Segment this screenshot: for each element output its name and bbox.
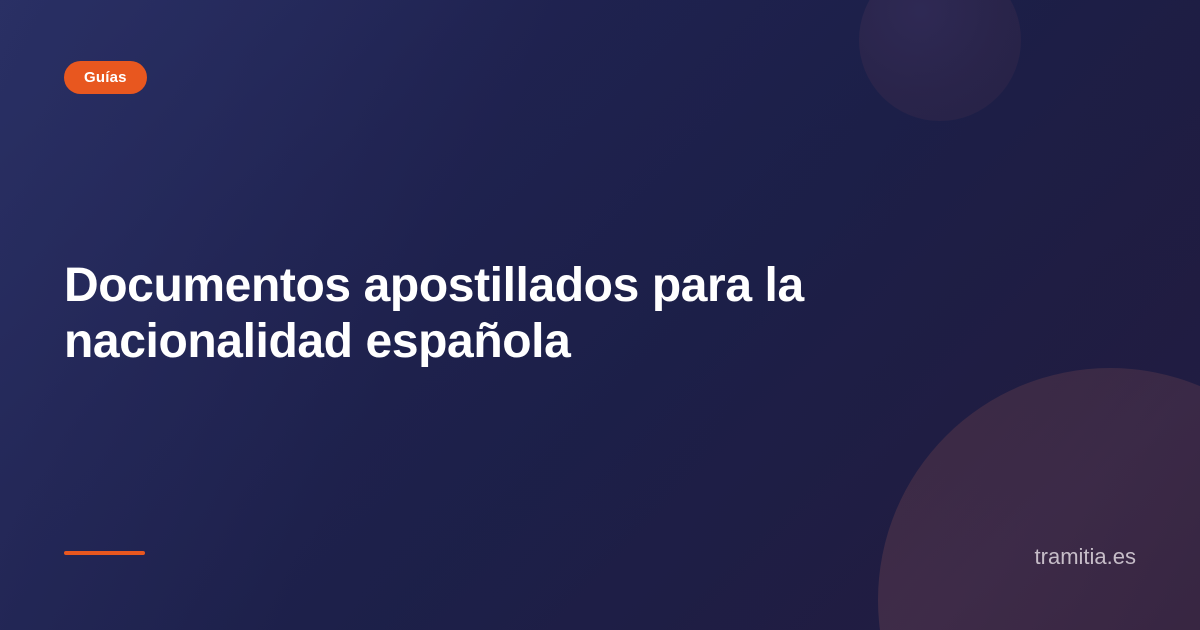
category-badge[interactable]: Guías bbox=[64, 61, 147, 94]
card-content: Guías Documentos apostillados para la na… bbox=[0, 0, 1200, 630]
accent-divider bbox=[64, 551, 145, 555]
page-title: Documentos apostillados para la nacional… bbox=[64, 258, 1024, 370]
social-share-card: Guías Documentos apostillados para la na… bbox=[0, 0, 1200, 630]
site-domain-label: tramitia.es bbox=[1035, 544, 1136, 570]
